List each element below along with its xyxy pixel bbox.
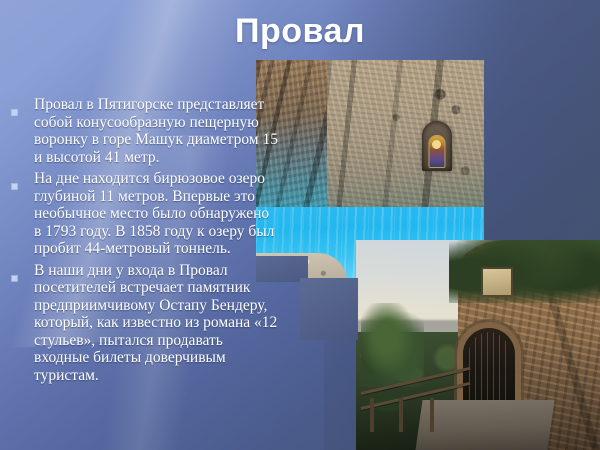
photo-divider-panel (300, 278, 358, 340)
square-bullet-icon (12, 96, 34, 120)
list-item: Провал в Пятигорске представляет собой к… (12, 96, 280, 166)
fence-post (430, 398, 434, 432)
square-bullet-icon (12, 262, 34, 286)
saint-icon (429, 136, 444, 167)
square-bullet-icon (12, 170, 34, 194)
fence-post (399, 398, 403, 432)
tunnel-entrance-photo (356, 240, 600, 450)
stone-plaque (483, 269, 511, 295)
icon-halo (432, 140, 441, 149)
list-item-text: В наши дни у входа в Провал посетителей … (34, 262, 280, 385)
fence-post (370, 398, 374, 432)
bullet-list: Провал в Пятигорске представляет собой к… (12, 96, 280, 388)
list-item-text: На дне находится бирюзовое озеро глубино… (34, 170, 280, 258)
list-item: На дне находится бирюзовое озеро глубино… (12, 170, 280, 258)
list-item: В наши дни у входа в Провал посетителей … (12, 262, 280, 385)
overhead-foliage (449, 240, 600, 303)
page-title: Провал (0, 10, 600, 52)
fence-rail (361, 382, 471, 410)
list-item-text: Провал в Пятигорске представляет собой к… (34, 96, 280, 166)
presentation-slide: Провал Провал в Пятигорске представляет … (0, 0, 600, 450)
foreground-tree (361, 303, 424, 387)
icon-niche (422, 121, 452, 171)
wooden-fence (361, 379, 473, 438)
